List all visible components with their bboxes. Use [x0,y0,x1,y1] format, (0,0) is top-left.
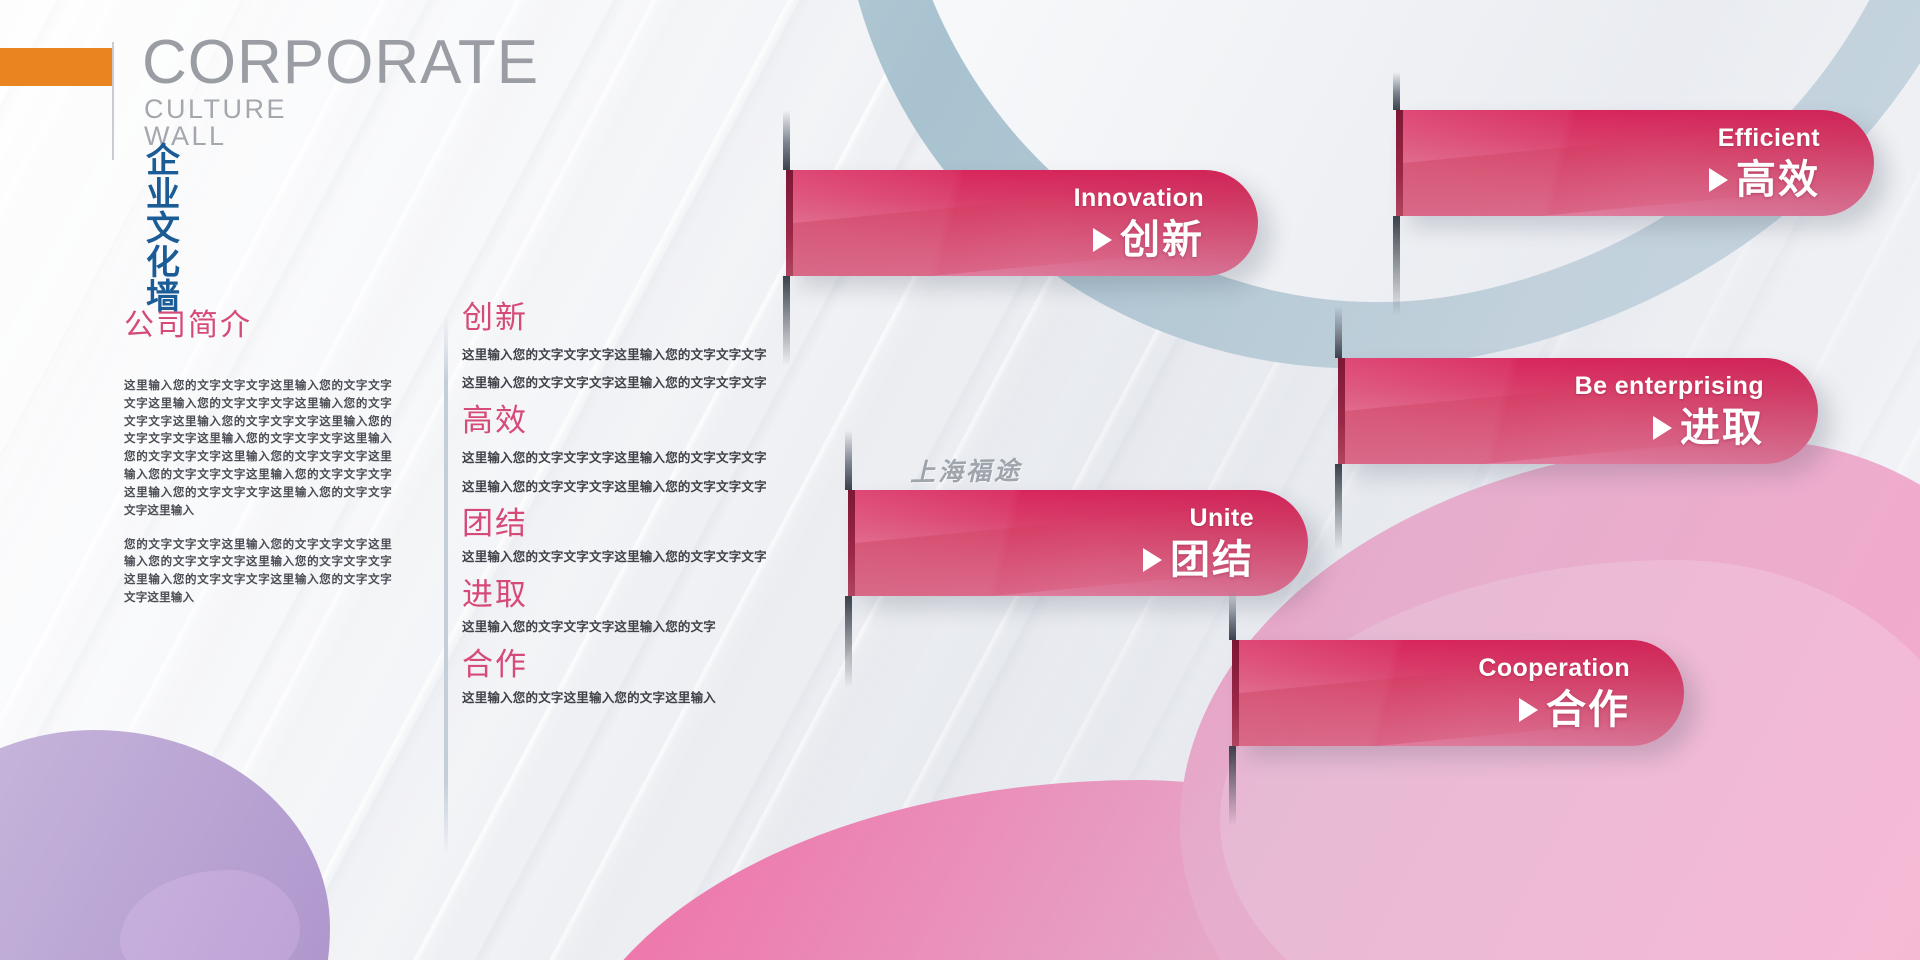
value-text: 这里输入您的文字文字文字这里输入您的文字文字文字 [462,548,862,567]
pill-chinese-text: 进取 [1680,408,1764,448]
pill-chinese-text: 团结 [1170,540,1254,580]
pill-english-label: Unite [1190,506,1255,531]
pill-stem-bottom [1393,216,1400,316]
page-title-chinese: 企业文化墙 [146,144,183,314]
column-divider [444,316,448,856]
pill-label: Unite 团结 [1143,490,1308,596]
pill-stem-bottom [1335,464,1342,550]
pill-chinese-label: 团结 [1143,540,1254,580]
value-heading-innovation: 创新 [462,300,862,336]
page-title: CORPORATE [142,32,539,94]
value-text: 这里输入您的文字文字文字这里输入您的文字文字文字 [462,346,862,365]
value-section-efficient: 高效 这里输入您的文字文字文字这里输入您的文字文字文字 这里输入您的文字文字文字… [462,403,862,496]
watermark: 上海福途 [910,451,1023,489]
company-intro-column: 公司简介 这里输入您的文字文字文字这里输入您的文字文字文字这里输入您的文字文字文… [124,300,392,624]
value-pill-cooperation[interactable]: Cooperation 合作 [1232,640,1684,746]
pill-label: Efficient 高效 [1709,110,1874,216]
pill-label: Be enterprising 进取 [1575,358,1818,464]
pill-left-edge [1396,110,1403,216]
value-pill-efficient[interactable]: Efficient 高效 [1396,110,1874,216]
value-text: 这里输入您的文字这里输入您的文字这里输入 [462,689,862,708]
value-heading-cooperation: 合作 [462,647,862,683]
culture-wall-canvas: CORPORATE CULTURE WALL 企业文化墙 公司简介 这里输入您的… [0,0,1920,960]
pill-chinese-label: 创新 [1093,220,1204,260]
value-pill-enterprising[interactable]: Be enterprising 进取 [1338,358,1818,464]
pill-stem-bottom [783,276,790,366]
values-text-column: 创新 这里输入您的文字文字文字这里输入您的文字文字文字 这里输入您的文字文字文字… [462,300,862,717]
value-text: 这里输入您的文字文字文字这里输入您的文字文字文字 [462,374,862,393]
play-triangle-icon [1093,228,1112,252]
pill-stem-top [1335,306,1342,358]
orange-accent-bar [0,48,112,86]
pill-chinese-text: 合作 [1546,690,1630,730]
pill-english-label: Innovation [1074,186,1204,211]
value-section-unite: 团结 这里输入您的文字文字文字这里输入您的文字文字文字 [462,506,862,566]
pill-english-label: Be enterprising [1575,374,1764,399]
value-pill-innovation[interactable]: Innovation 创新 [786,170,1258,276]
pill-chinese-label: 高效 [1709,160,1820,200]
pill-stem-bottom [1229,746,1236,826]
pill-left-edge [1232,640,1239,746]
pill-chinese-label: 合作 [1519,690,1630,730]
pill-label: Cooperation 合作 [1478,640,1684,746]
value-section-cooperation: 合作 这里输入您的文字这里输入您的文字这里输入 [462,647,862,707]
pill-left-edge [786,170,793,276]
value-text: 这里输入您的文字文字文字这里输入您的文字文字文字 [462,478,862,497]
play-triangle-icon [1653,416,1672,440]
pill-stem-top [783,110,790,170]
pill-stem-top [845,430,852,490]
value-section-innovation: 创新 这里输入您的文字文字文字这里输入您的文字文字文字 这里输入您的文字文字文字… [462,300,862,393]
pill-stem-bottom [845,596,852,688]
pill-stem-top [1229,590,1236,640]
company-intro-paragraph-1: 这里输入您的文字文字文字这里输入您的文字文字文字这里输入您的文字文字文字这里输入… [124,378,392,521]
pill-chinese-label: 进取 [1653,408,1764,448]
value-section-enterprising: 进取 这里输入您的文字文字文字这里输入您的文字 [462,577,862,637]
company-intro-heading: 公司简介 [124,300,392,344]
pill-stem-top [1393,72,1400,110]
value-text: 这里输入您的文字文字文字这里输入您的文字 [462,618,862,637]
company-intro-paragraph-2: 您的文字文字文字这里输入您的文字文字文字这里输入您的文字文字文字这里输入您的文字… [124,537,392,608]
pill-chinese-text: 高效 [1736,160,1820,200]
play-triangle-icon [1143,548,1162,572]
header-divider-rule [112,42,114,160]
value-text: 这里输入您的文字文字文字这里输入您的文字文字文字 [462,449,862,468]
pill-chinese-text: 创新 [1120,220,1204,260]
value-heading-efficient: 高效 [462,403,862,439]
pill-left-edge [1338,358,1345,464]
value-heading-enterprising: 进取 [462,577,862,613]
play-triangle-icon [1709,168,1728,192]
play-triangle-icon [1519,698,1538,722]
pill-english-label: Cooperation [1478,656,1630,681]
pill-left-edge [848,490,855,596]
pill-label: Innovation 创新 [1074,170,1258,276]
value-heading-unite: 团结 [462,506,862,542]
pill-english-label: Efficient [1718,126,1820,151]
value-pill-unite[interactable]: Unite 团结 [848,490,1308,596]
